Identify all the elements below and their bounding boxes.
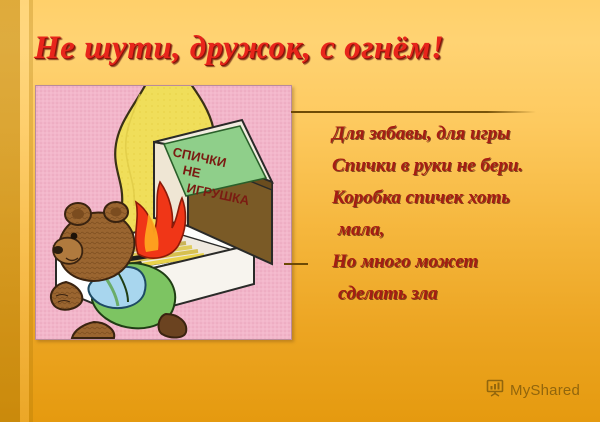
- dash-bullet-icon: [284, 263, 308, 265]
- poem-line: Коробка спичек хоть: [296, 182, 596, 214]
- poem-divider: [291, 111, 536, 113]
- left-band-outer: [0, 0, 20, 422]
- page-title: Не шути, дружок, с огнём!: [34, 28, 504, 68]
- poem-line-bulleted: Но много может: [296, 246, 596, 278]
- poem-line-text: Но много может: [332, 251, 478, 272]
- slide: Не шути, дружок, с огнём!: [0, 0, 600, 422]
- illustration-artwork: СПИЧКИ НЕ ИГРУШКА: [36, 86, 291, 339]
- poem-line: Для забавы, для игры: [296, 118, 596, 150]
- left-band-inner: [29, 0, 33, 422]
- poem-line: сделать зла: [296, 278, 596, 310]
- watermark: MyShared: [486, 379, 580, 402]
- illustration-bear-matchbox: СПИЧКИ НЕ ИГРУШКА: [35, 85, 292, 340]
- left-band-light: [20, 0, 29, 422]
- poem-line: мала,: [296, 214, 596, 246]
- watermark-label: MyShared: [510, 382, 580, 399]
- poem-line: Спички в руки не бери.: [296, 150, 596, 182]
- poem-block: Для забавы, для игры Спички в руки не бе…: [296, 118, 596, 310]
- presentation-chart-icon: [486, 379, 504, 402]
